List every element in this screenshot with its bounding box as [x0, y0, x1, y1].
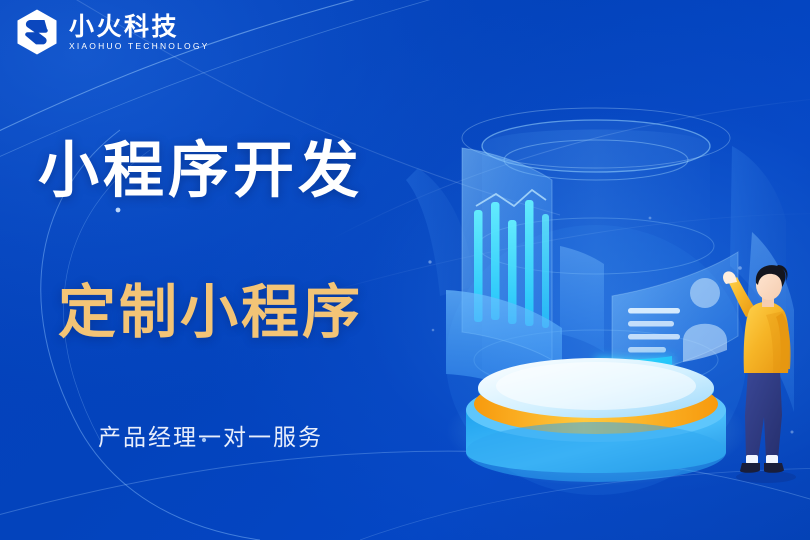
headline-block: 小程序开发 定制小程序 产品经理一对一服务 — [0, 0, 470, 540]
person-pointing-figure — [718, 255, 810, 485]
logo-company-name-en: XIAOHUO TECHNOLOGY — [69, 42, 210, 51]
logo-company-name-cn: 小火科技 — [69, 13, 210, 40]
headline-secondary: 定制小程序 — [58, 283, 363, 341]
hexagon-lightning-logo-icon — [14, 8, 60, 56]
pants — [745, 370, 782, 459]
headline-primary: 小程序开发 — [38, 140, 363, 201]
brand-logo[interactable]: 小火科技 XIAOHUO TECHNOLOGY — [14, 8, 210, 56]
promo-banner: 小火科技 XIAOHUO TECHNOLOGY 小程序开发 定制小程序 产品经理… — [0, 0, 810, 540]
headline-subtitle: 产品经理一对一服务 — [98, 418, 323, 452]
pedestal — [446, 358, 746, 486]
